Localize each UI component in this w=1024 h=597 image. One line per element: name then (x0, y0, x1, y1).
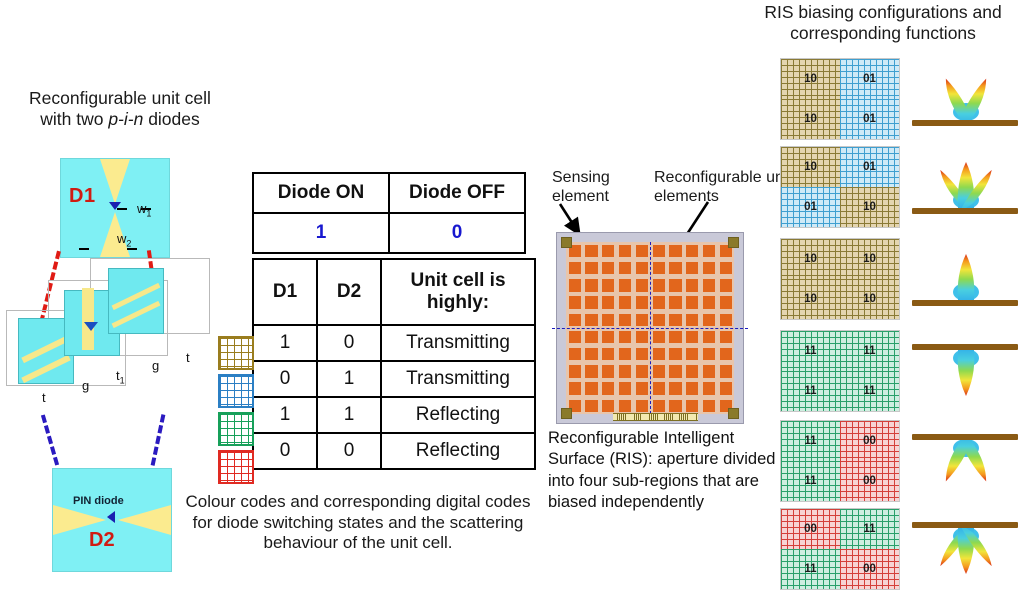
value-diode-off: 0 (389, 213, 525, 253)
bias-quadrant-gold: 10 (781, 279, 840, 319)
ris-unit-element (602, 314, 614, 326)
ris-unit-element (636, 365, 648, 377)
beam-pattern (908, 58, 1024, 138)
bias-quadrant-green: 11 (840, 509, 899, 549)
ris-unit-element (585, 331, 597, 343)
ris-unit-element (653, 279, 665, 291)
ris-unit-element (636, 331, 648, 343)
unit-cell-caption-pin: p-i-n (108, 109, 143, 129)
ris-unit-element (569, 365, 581, 377)
ris-unit-element (686, 279, 698, 291)
header-diode-on: Diode ON (253, 173, 389, 213)
sensing-element-pad (728, 408, 739, 419)
ris-unit-element (669, 279, 681, 291)
ris-board-substrate (556, 232, 744, 424)
cell-d1: 1 (253, 397, 317, 433)
ris-unit-element (720, 382, 732, 394)
ris-unit-element (686, 314, 698, 326)
ris-unit-element (619, 400, 631, 412)
ris-unit-element (585, 400, 597, 412)
w1-label: w1 (137, 201, 151, 219)
ris-unit-element (653, 331, 665, 343)
configuration-row: 11001100 (780, 420, 1024, 500)
bias-quadrant-green: 11 (781, 549, 840, 589)
ris-unit-element (602, 279, 614, 291)
bias-quadrant-green: 11 (781, 421, 840, 461)
ris-unit-element (720, 314, 732, 326)
ris-unit-element (686, 382, 698, 394)
ris-unit-element (602, 296, 614, 308)
table-row: 1 0 (253, 213, 525, 253)
bias-quadrant-green: 11 (840, 331, 899, 371)
unit-cell-caption: Reconfigurable unit cell with two p-i-n … (4, 88, 236, 131)
ris-unit-element (636, 314, 648, 326)
ris-unit-element (686, 365, 698, 377)
ris-unit-element (619, 382, 631, 394)
configuration-row: 11111111 (780, 330, 1024, 410)
leader-line-bottom-left (41, 414, 59, 465)
bias-pattern-grid: 10011001 (780, 58, 900, 140)
configurations-title: RIS biasing configurations and correspon… (744, 2, 1022, 45)
ris-unit-element (653, 382, 665, 394)
bias-quadrant-blue: 01 (840, 147, 899, 187)
table-row: 0 1 Transmitting (253, 361, 535, 397)
bias-pattern-grid: 00111100 (780, 508, 900, 590)
ris-unit-element (602, 382, 614, 394)
beam-pattern (908, 420, 1024, 500)
ris-unit-element (720, 296, 732, 308)
ris-unit-element (669, 331, 681, 343)
ris-unit-element (636, 296, 648, 308)
header-diode-off: Diode OFF (389, 173, 525, 213)
ris-unit-element (703, 279, 715, 291)
w2-label: w2 (117, 231, 131, 249)
ris-horizontal-divider (552, 328, 748, 329)
dim-label-2: t1 (116, 368, 125, 386)
colour-swatch-green (218, 412, 250, 442)
ris-unit-element (585, 348, 597, 360)
ris-unit-element (653, 262, 665, 274)
configuration-row: 10011001 (780, 58, 1024, 138)
ris-unit-element (686, 400, 698, 412)
unit-cell-caption-line1: Reconfigurable unit cell (29, 88, 211, 108)
ris-unit-element (703, 348, 715, 360)
bowtie-metal-upper (100, 159, 130, 204)
beam-lobes (908, 420, 1024, 500)
ris-unit-element (585, 245, 597, 257)
ris-unit-element (636, 262, 648, 274)
ris-unit-element (619, 365, 631, 377)
ris-unit-element (619, 348, 631, 360)
ris-unit-element (669, 365, 681, 377)
configuration-row: 10010110 (780, 146, 1024, 226)
beam-lobes (908, 330, 1024, 410)
beam-pattern (908, 508, 1024, 588)
ris-unit-element (720, 365, 732, 377)
ris-unit-element (569, 279, 581, 291)
ris-unit-element (653, 245, 665, 257)
ris-unit-element (585, 314, 597, 326)
ris-unit-element (669, 382, 681, 394)
ris-surface-bar (912, 434, 1018, 440)
ris-caption: Reconfigurable Intelligent Surface (RIS)… (548, 428, 788, 514)
bias-quadrant-red: 00 (781, 509, 840, 549)
bowtie-metal-right (118, 505, 171, 535)
ris-unit-element (653, 365, 665, 377)
header-behaviour: Unit cell is highly: (381, 259, 535, 325)
cell-behaviour: Reflecting (381, 433, 535, 469)
bias-quadrant-green: 11 (781, 371, 840, 411)
dim-label-4: t (186, 350, 190, 365)
ris-unit-element (686, 348, 698, 360)
ris-unit-element (686, 296, 698, 308)
ris-surface-bar (912, 344, 1018, 350)
bias-quadrant-gold: 10 (781, 59, 840, 99)
beam-pattern (908, 146, 1024, 226)
sensing-element-pad (728, 237, 739, 248)
dim-label-0: t (42, 390, 46, 405)
bias-quadrant-red: 00 (840, 549, 899, 589)
unit-cell-caption-line2a: with two (40, 109, 108, 129)
cell-d2: 1 (317, 361, 381, 397)
ris-unit-element (669, 262, 681, 274)
ris-unit-element (703, 382, 715, 394)
ris-unit-element (720, 331, 732, 343)
truth-table-caption: Colour codes and corresponding digital c… (182, 492, 534, 554)
ris-unit-element (636, 245, 648, 257)
leader-line-bottom-right (151, 414, 166, 466)
configuration-row: 10101010 (780, 238, 1024, 318)
bias-quadrant-gold: 10 (840, 279, 899, 319)
ris-unit-element (686, 262, 698, 274)
header-d2: D2 (317, 259, 381, 325)
ris-unit-element (569, 262, 581, 274)
diode-state-table: Diode ON Diode OFF 1 0 (252, 172, 526, 254)
beam-lobes (908, 146, 1024, 226)
unit-cell-truth-table: D1 D2 Unit cell is highly: 1 0 Transmitt… (252, 258, 536, 470)
d2-label: D2 (89, 529, 115, 552)
ris-unit-element (703, 365, 715, 377)
ris-unit-element (602, 262, 614, 274)
ris-unit-element (619, 279, 631, 291)
ris-unit-element (602, 348, 614, 360)
table-row: 0 0 Reflecting (253, 433, 535, 469)
bias-quadrant-green: 11 (840, 371, 899, 411)
table-row: 1 0 Transmitting (253, 325, 535, 361)
ris-unit-element (569, 314, 581, 326)
bias-quadrant-blue: 01 (840, 59, 899, 99)
bias-pattern-grid: 10101010 (780, 238, 900, 320)
ris-unit-element (569, 296, 581, 308)
d2-diode-icon (107, 511, 115, 523)
unit-cell-front-face: D1 w1 w2 (60, 158, 170, 258)
ris-unit-element (636, 400, 648, 412)
ris-unit-element (669, 314, 681, 326)
table-header-row: D1 D2 Unit cell is highly: (253, 259, 535, 325)
diode-marker-3d (84, 322, 98, 331)
dim-label-3: g (152, 358, 159, 373)
cell-behaviour: Transmitting (381, 325, 535, 361)
ris-unit-element (636, 279, 648, 291)
ris-unit-element (636, 348, 648, 360)
ris-unit-element (585, 262, 597, 274)
ris-surface-bar (912, 120, 1018, 126)
ris-unit-element (569, 331, 581, 343)
ris-unit-element (720, 262, 732, 274)
ris-unit-element (585, 365, 597, 377)
configuration-row: 00111100 (780, 508, 1024, 588)
ris-unit-element (669, 245, 681, 257)
ris-aperture (566, 242, 734, 414)
unit-cell-back-face: PIN diode D2 (52, 468, 172, 572)
ris-bias-connector (613, 413, 699, 421)
ris-unit-element (602, 365, 614, 377)
beam-lobe (958, 254, 975, 300)
bias-pattern-grid: 11111111 (780, 330, 900, 412)
ris-unit-element (619, 245, 631, 257)
bias-quadrant-gold: 10 (781, 99, 840, 139)
ris-unit-element (585, 382, 597, 394)
cell-d1: 0 (253, 433, 317, 469)
pin-diode-label: PIN diode (73, 495, 124, 507)
ris-unit-element (653, 296, 665, 308)
beam-lobes (908, 58, 1024, 138)
beam-lobe (959, 436, 986, 481)
bias-pattern-grid: 10010110 (780, 146, 900, 228)
ris-unit-element (703, 262, 715, 274)
beam-lobe (959, 79, 986, 124)
ris-surface-bar (912, 522, 1018, 528)
ris-unit-element (703, 400, 715, 412)
bias-quadrant-red: 00 (840, 421, 899, 461)
beam-pattern (908, 238, 1024, 318)
ris-unit-element (703, 245, 715, 257)
bias-quadrant-green: 11 (781, 461, 840, 501)
bias-quadrant-gold: 10 (781, 147, 840, 187)
value-diode-on: 1 (253, 213, 389, 253)
table-row: 1 1 Reflecting (253, 397, 535, 433)
connector-pin (697, 414, 699, 420)
ris-unit-element (569, 382, 581, 394)
cell-behaviour: Reflecting (381, 397, 535, 433)
bias-quadrant-green: 11 (781, 331, 840, 371)
ris-unit-element (636, 382, 648, 394)
ris-board (556, 232, 744, 424)
sensing-element-pad (561, 237, 572, 248)
unit-cell-caption-line2b: diodes (143, 109, 199, 129)
ris-unit-element (619, 296, 631, 308)
bias-quadrant-blue: 01 (840, 99, 899, 139)
beam-lobes (908, 238, 1024, 318)
dim-label-1: g (82, 378, 89, 393)
bias-quadrant-blue: 01 (781, 187, 840, 227)
cell-d2: 0 (317, 433, 381, 469)
ris-unit-element (619, 331, 631, 343)
ris-unit-element (619, 262, 631, 274)
ris-surface-bar (912, 300, 1018, 306)
colour-swatch-red (218, 450, 250, 480)
ris-unit-element (585, 279, 597, 291)
ris-unit-element (569, 348, 581, 360)
table-row: Diode ON Diode OFF (253, 173, 525, 213)
ris-unit-element (669, 296, 681, 308)
ris-unit-element (602, 400, 614, 412)
dimension-labels-row: t g t1 g t (20, 350, 205, 408)
cell-d2: 0 (317, 325, 381, 361)
d1-label: D1 (69, 185, 96, 208)
cell-behaviour: Transmitting (381, 361, 535, 397)
bias-quadrant-gold: 10 (781, 239, 840, 279)
header-d1: D1 (253, 259, 317, 325)
ris-unit-element (653, 400, 665, 412)
ris-unit-element (669, 400, 681, 412)
beam-pattern (908, 330, 1024, 410)
cell-d1: 1 (253, 325, 317, 361)
ris-unit-element (703, 296, 715, 308)
bias-quadrant-red: 00 (840, 461, 899, 501)
beam-lobes (908, 508, 1024, 588)
ris-unit-element (669, 348, 681, 360)
ris-unit-element (686, 245, 698, 257)
ris-unit-element (602, 245, 614, 257)
ris-unit-element (653, 348, 665, 360)
bias-quadrant-gold: 10 (840, 239, 899, 279)
ris-unit-element (686, 331, 698, 343)
ris-unit-element (720, 348, 732, 360)
ris-unit-element (703, 331, 715, 343)
colour-swatch-gold (218, 336, 250, 366)
ris-unit-element (585, 296, 597, 308)
beam-lobe (958, 350, 975, 396)
ris-unit-element (619, 314, 631, 326)
ris-unit-element (703, 314, 715, 326)
colour-swatch-blue (218, 374, 250, 404)
ris-unit-element (602, 331, 614, 343)
ris-surface-bar (912, 208, 1018, 214)
ris-unit-element (653, 314, 665, 326)
cell-d2: 1 (317, 397, 381, 433)
cell-d1: 0 (253, 361, 317, 397)
sensing-element-pad (561, 408, 572, 419)
ris-unit-element (720, 279, 732, 291)
bias-quadrant-gold: 10 (840, 187, 899, 227)
bias-pattern-grid: 11001100 (780, 420, 900, 502)
